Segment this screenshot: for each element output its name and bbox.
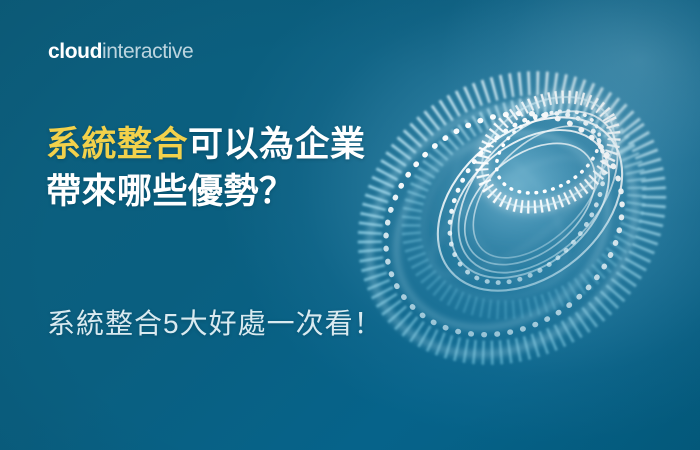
banner-canvas: cloudinteractive 系統整合可以為企業 帶來哪些優勢？ 系統整合5… <box>0 0 700 450</box>
brand-logo[interactable]: cloudinteractive <box>48 40 193 64</box>
subtitle: 系統整合5大好處一次看！ <box>47 305 477 343</box>
background-vignette <box>0 0 700 450</box>
headline-line-1: 系統整合可以為企業 <box>46 121 446 168</box>
headline-line-1-rest: 可以為企業 <box>188 125 366 164</box>
brand-logo-light: interactive <box>102 40 193 63</box>
brand-logo-bold: cloud <box>48 40 102 63</box>
headline-accent-text: 系統整合 <box>46 125 188 164</box>
headline-line-2: 帶來哪些優勢？ <box>46 168 446 215</box>
headline: 系統整合可以為企業 帶來哪些優勢？ <box>46 121 446 215</box>
